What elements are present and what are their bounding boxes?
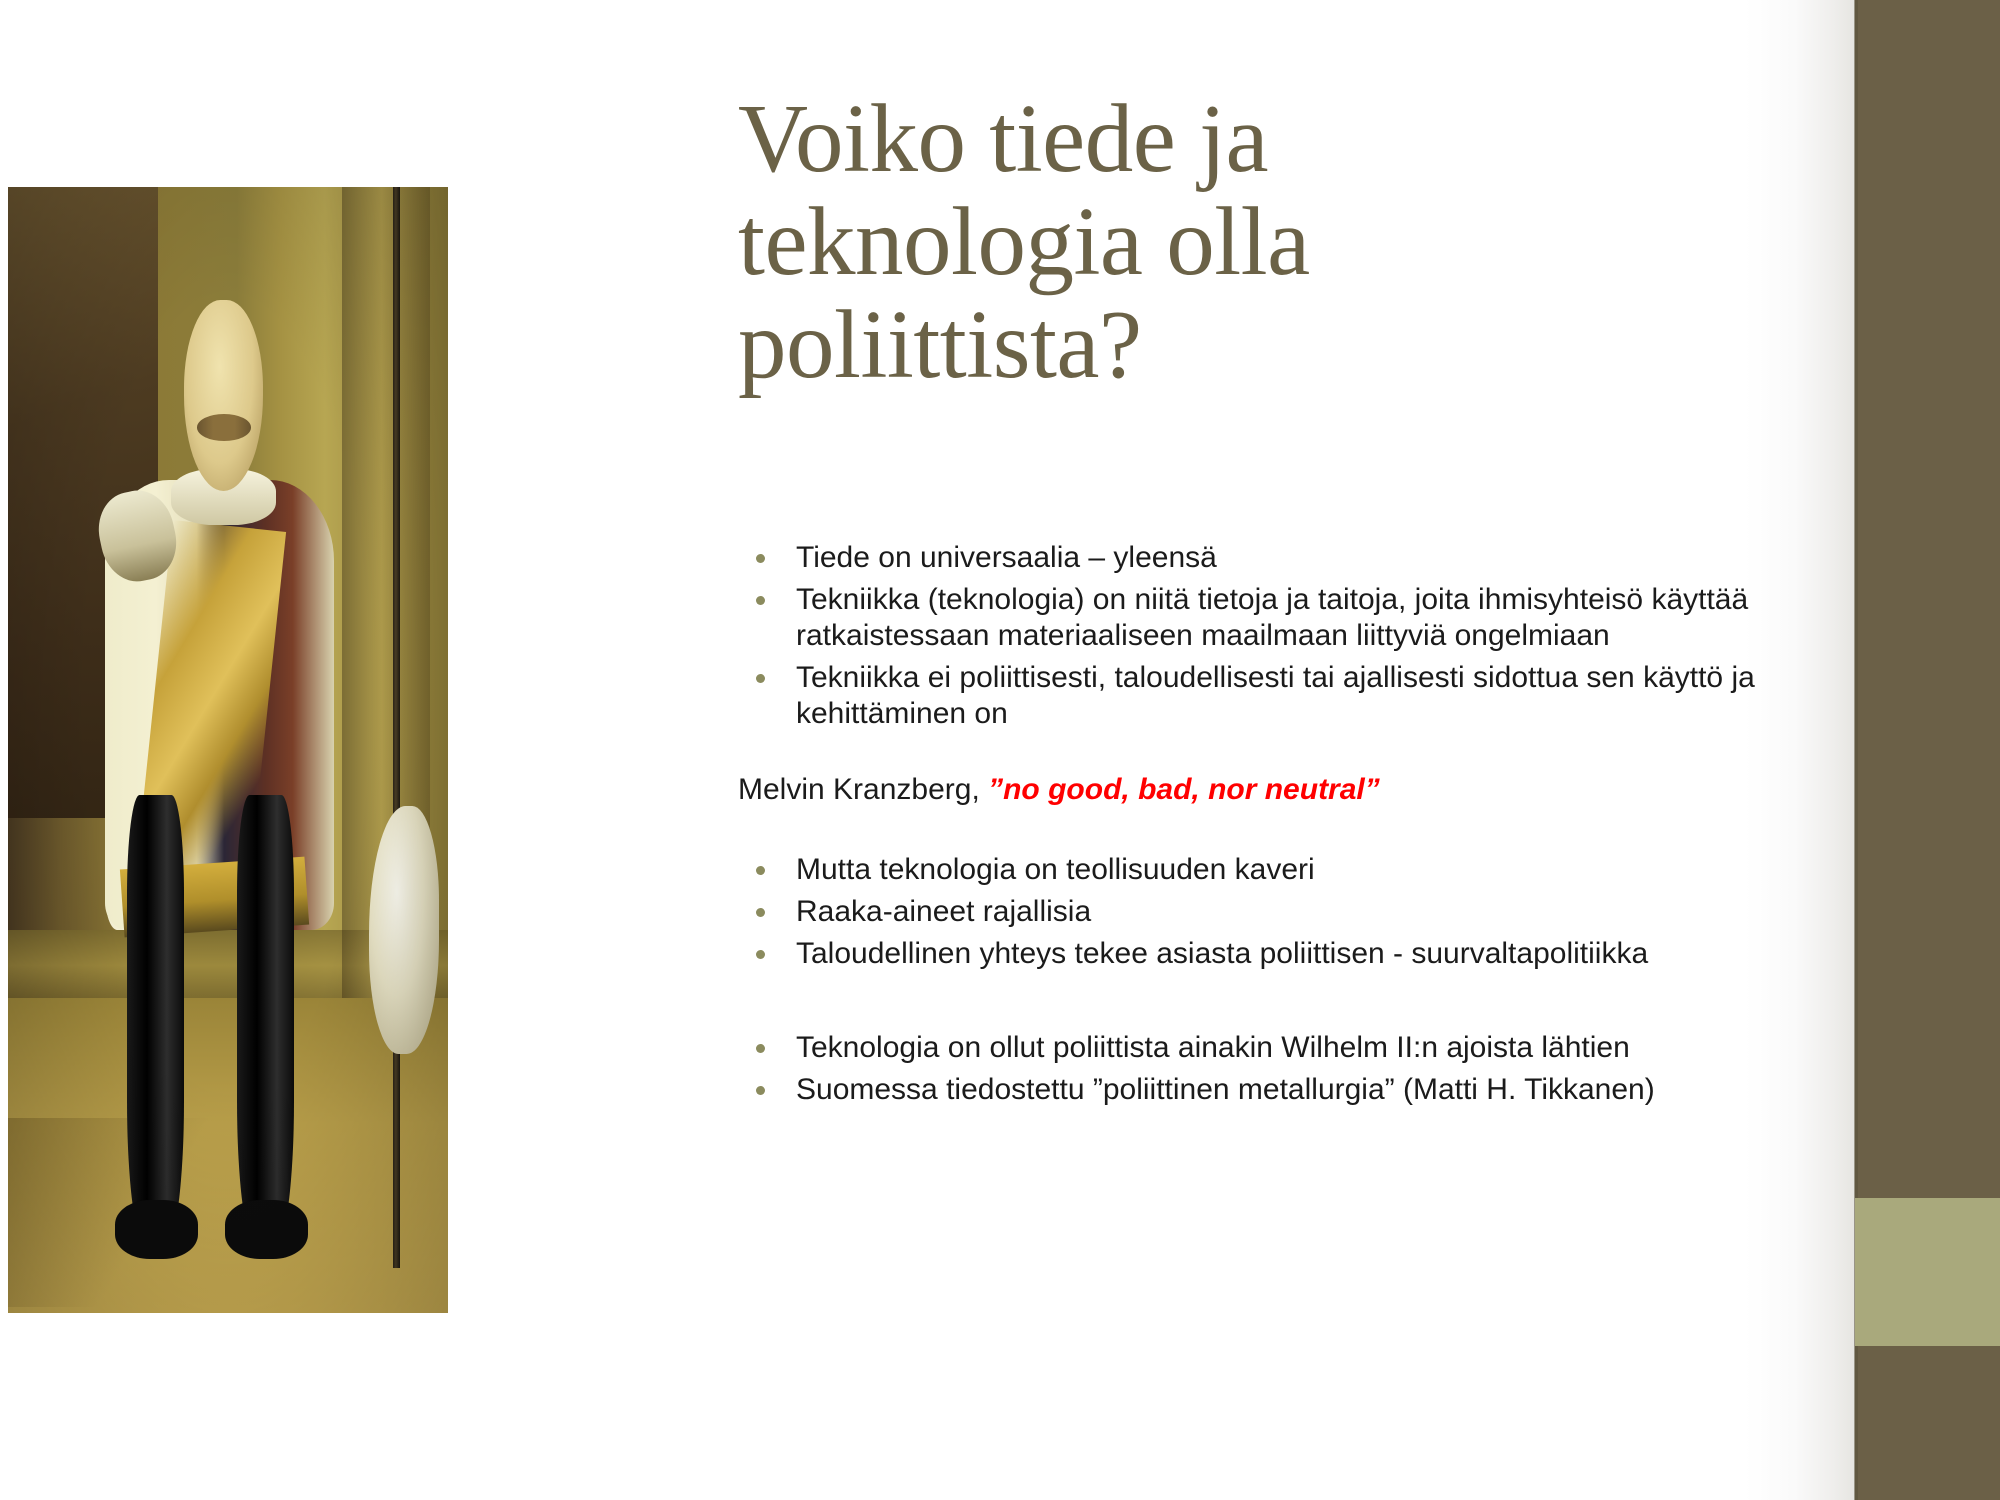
bullet-group-1: Tiede on universaalia – yleensä Tekniikk… (738, 540, 1798, 732)
quote-highlight: ”no good, bad, nor neutral” (988, 773, 1380, 806)
slide-body: Tiede on universaalia – yleensä Tekniikk… (738, 540, 1798, 1114)
spacer-2 (738, 978, 1798, 1030)
list-item: Suomessa tiedostettu ”poliittinen metall… (738, 1072, 1798, 1108)
list-item: Tekniikka ei poliittisesti, taloudellise… (738, 660, 1798, 732)
kranzberg-quote: Melvin Kranzberg, ”no good, bad, nor neu… (738, 772, 1798, 808)
portrait-image (8, 187, 448, 1313)
list-item: Taloudellinen yhteys tekee asiasta polii… (738, 936, 1798, 972)
right-accent-band (1855, 1198, 2000, 1346)
list-item: Tiede on universaalia – yleensä (738, 540, 1798, 576)
spacer-1 (738, 808, 1798, 852)
quote-attribution: Melvin Kranzberg, (738, 773, 988, 806)
bullet-group-2: Mutta teknologia on teollisuuden kaveri … (738, 852, 1798, 972)
list-item: Teknologia on ollut poliittista ainakin … (738, 1030, 1798, 1066)
slide-title: Voiko tiede ja teknologia olla poliittis… (738, 88, 1558, 396)
bullet-group-3: Teknologia on ollut poliittista ainakin … (738, 1030, 1798, 1108)
list-item: Mutta teknologia on teollisuuden kaveri (738, 852, 1798, 888)
list-item: Raaka-aineet rajallisia (738, 894, 1798, 930)
portrait-vignette (8, 187, 448, 1313)
list-item: Tekniikka (teknologia) on niitä tietoja … (738, 582, 1798, 654)
slide-canvas: Voiko tiede ja teknologia olla poliittis… (0, 0, 2000, 1500)
